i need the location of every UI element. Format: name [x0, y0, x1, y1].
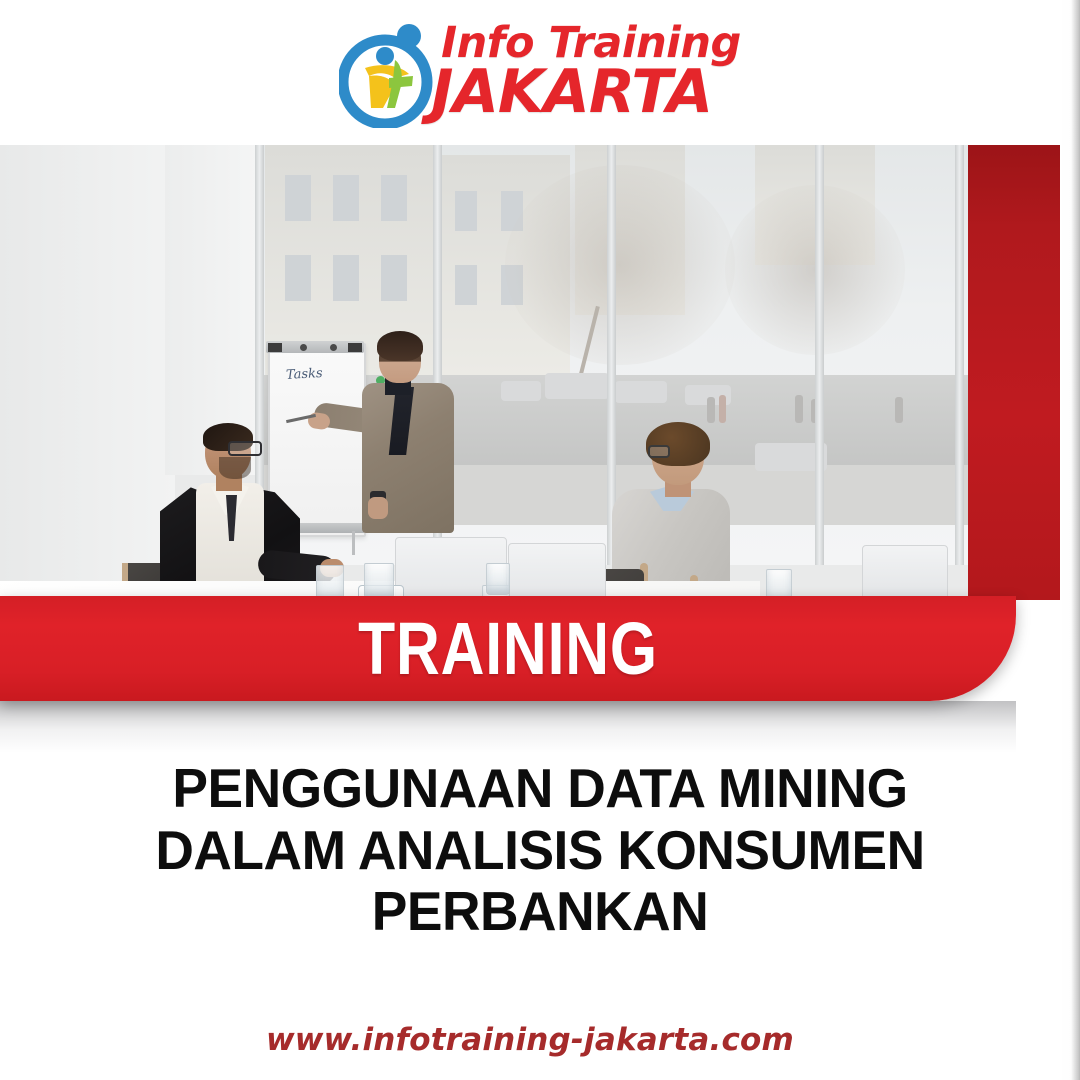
attendee-right-hair [646, 422, 710, 466]
flipchart-handwriting: Tasks [286, 366, 323, 383]
photo-accent-band [968, 145, 1080, 600]
training-banner: TRAINING [0, 596, 1016, 701]
poster-canvas: Info Training JAKARTA [0, 0, 1080, 1080]
flipchart-clip-left [268, 343, 282, 352]
attendee-left-beard [219, 457, 251, 479]
flipchart-leg [352, 531, 355, 555]
room-wall [0, 145, 175, 600]
footer-website[interactable]: www.infotraining-jakarta.com [0, 1022, 1060, 1058]
it-circle-logo-icon [339, 16, 443, 128]
presenter-hair [377, 331, 423, 361]
title-line-1: PENGGUNAAN DATA MINING [55, 758, 1025, 820]
website-url-text[interactable]: www.infotraining-jakarta.com [266, 1022, 794, 1058]
meeting-room-scene: Tasks [0, 145, 968, 600]
title-line-2: DALAM ANALISIS KONSUMEN [55, 820, 1025, 882]
banner-dropshadow [0, 701, 1016, 753]
flipchart-magnet [300, 344, 307, 351]
logo-line-jakarta: JAKARTA [431, 62, 741, 122]
water-glass [364, 563, 394, 599]
water-glass [316, 565, 344, 600]
banner-label: TRAINING [91, 596, 924, 701]
attendee-right-glasses [648, 445, 670, 458]
flipchart-magnet [330, 344, 337, 351]
hero-photo: Tasks [0, 145, 1080, 600]
presenter-hand-lower [368, 497, 388, 519]
page-title: PENGGUNAAN DATA MINING DALAM ANALISIS KO… [40, 758, 1040, 943]
flipchart-clip-right [348, 343, 362, 352]
water-glass [486, 563, 510, 595]
title-line-3: PERBANKAN [55, 881, 1025, 943]
brand-logo: Info Training JAKARTA [0, 8, 1080, 136]
attendee-left-glasses [228, 441, 262, 456]
